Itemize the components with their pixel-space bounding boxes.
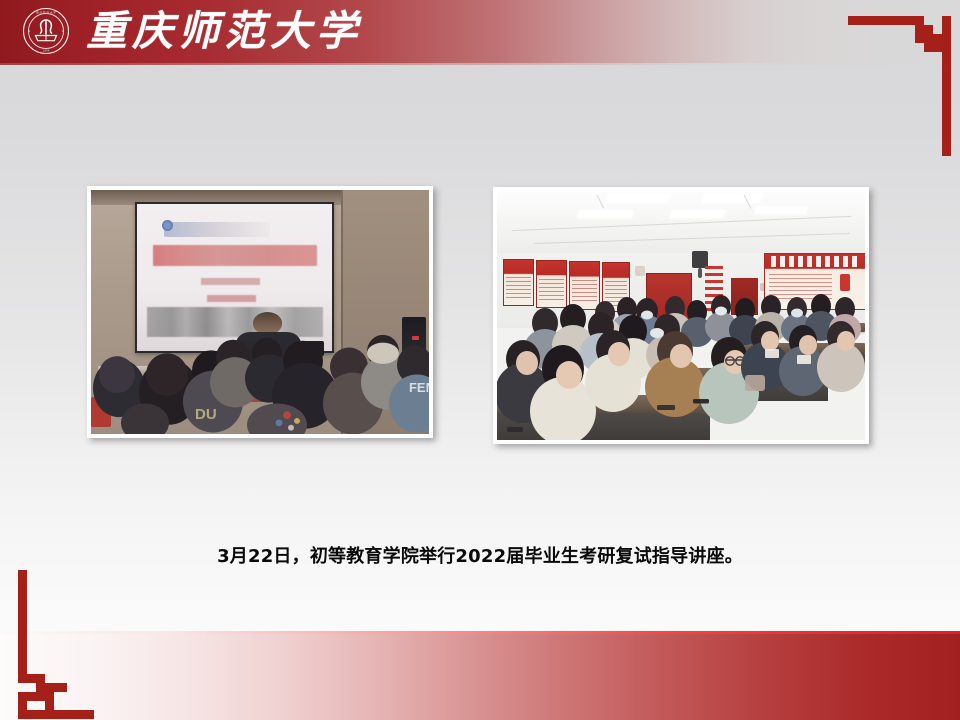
svg-text:重 庆 师 范 大 学: 重 庆 师 范 大 学 (36, 11, 56, 15)
audience-figures (497, 191, 865, 440)
presentation-slide: 重 庆 师 范 大 学 1954 重庆师范大学 (0, 0, 960, 720)
photo-lecture-hall-image: FENDI DU (91, 190, 429, 434)
university-name: 重庆师范大学 (86, 6, 346, 56)
header-underline (0, 63, 960, 65)
photo-audience-image (497, 191, 865, 440)
photo-audience[interactable] (493, 187, 869, 444)
svg-text:1954: 1954 (43, 48, 50, 52)
footer-band (0, 634, 960, 720)
svg-text:FENDI: FENDI (409, 380, 429, 395)
ornament-top-right-icon (828, 8, 960, 156)
lecture-audience: FENDI DU (91, 332, 429, 434)
projected-slide-title (153, 245, 317, 266)
ornament-bottom-left-icon (8, 570, 140, 720)
university-seal-icon: 重 庆 师 范 大 学 1954 (22, 7, 70, 55)
slide-caption: 3月22日，初等教育学院举行2022届毕业生考研复试指导讲座。 (0, 544, 960, 570)
photo-lecture-hall[interactable]: FENDI DU (87, 186, 433, 438)
svg-text:DU: DU (195, 407, 217, 423)
